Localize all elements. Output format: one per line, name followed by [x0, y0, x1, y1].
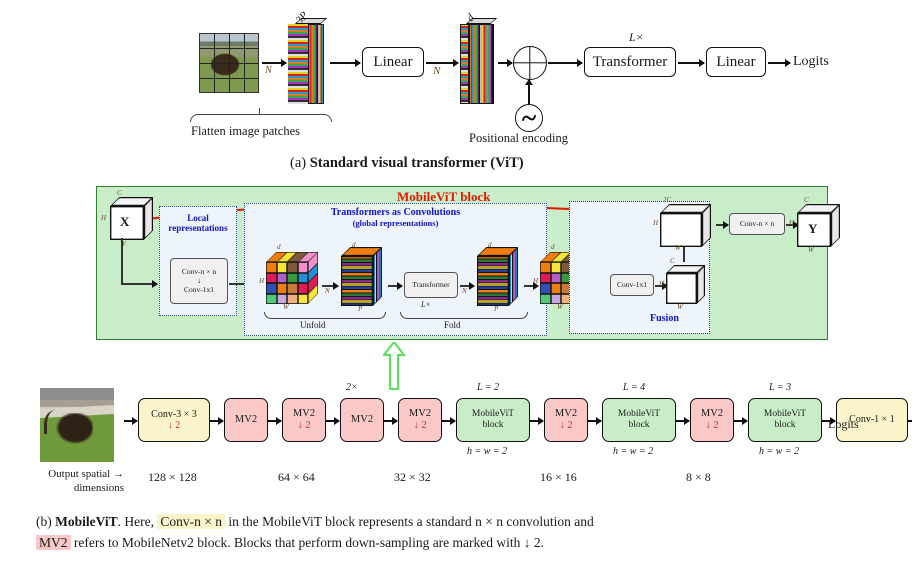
block-mv2-6-line2: ↓ 2 [705, 420, 718, 432]
local-conv-1x1-label: Conv-1x1 [184, 286, 214, 295]
green-link-arrow [383, 342, 407, 390]
arrow-flatten-to-linear [330, 62, 360, 64]
arrow-to-mv2-3 [326, 420, 339, 422]
input-tensor-cube-x: X [110, 196, 156, 240]
x-down-line [121, 238, 123, 284]
block-mvit-2-line1: MobileViT [618, 409, 660, 420]
linear-box-2: Linear [706, 47, 766, 77]
block-mv2-2: MV2↓ 2 [282, 398, 326, 442]
arrow-to-mv2-1 [210, 420, 223, 422]
figure-mobilevit: N 3P Linear N d Positional encoding L× T… [0, 0, 912, 572]
label-positional-encoding: Positional encoding [469, 131, 568, 146]
label-spatial-mv2-6: 8 × 8 [686, 470, 711, 485]
flattened-patch-stack [288, 24, 324, 104]
arrow-to-mvit-1 [442, 420, 455, 422]
arrow-to-mv2-2 [268, 420, 281, 422]
arrow-linear2-to-logits [768, 62, 790, 64]
label-bottom-mvit-3: h = w = 2 [759, 446, 799, 457]
arrow-posenc-to-add [528, 80, 530, 104]
linear-box-1: Linear [362, 47, 424, 77]
arrow-linear-to-tokens [426, 62, 458, 64]
label-block-transformer-repeat: L× [421, 300, 431, 309]
fusion-conv1x1-box: Conv-1x1 [610, 274, 654, 296]
block-mvit-1-line1: MobileViT [472, 409, 514, 420]
label-top-mv2-3: 2× [346, 382, 358, 393]
fusion-convnn-box: Conv-n × n [729, 213, 785, 235]
block-mv2-4-line2: ↓ 2 [413, 420, 426, 432]
block-conv3x3-line2: ↓ 2 [168, 420, 181, 431]
label-fusion-small-h: H [659, 280, 664, 288]
local-representations-title: Local representations [159, 213, 237, 233]
input-image-patches [199, 33, 259, 93]
label-sheet2-d: d [488, 241, 492, 249]
local-conv-nn-label: Conv-n × n [182, 268, 216, 277]
caption-b-part3: refers to MobileNetv2 block. Blocks that… [71, 535, 545, 550]
arrow-sheets2-to-cube [524, 285, 538, 287]
caption-a-bold: Standard visual transformer (ViT) [310, 155, 524, 171]
arrow-x-to-local [121, 283, 157, 285]
arrow-to-mv2-5 [530, 420, 543, 422]
label-flatten-image-patches: Flatten image patches [191, 124, 300, 139]
block-mv2-3-line1: MV2 [351, 414, 373, 426]
transformer-box: Transformer [584, 47, 676, 77]
fusion-cube-concat [660, 203, 714, 247]
local-conv-box: Conv-n × n ↓ Conv-1x1 [170, 258, 228, 304]
label-logits-a: Logits [793, 54, 829, 70]
label-y-h: H [789, 219, 794, 227]
global-title-l1: Transformers as Convolutions [331, 207, 460, 218]
add-operator-icon [513, 46, 547, 80]
arrow-sheets-to-transformer [388, 285, 402, 287]
block-mvit-3-line2: block [774, 420, 795, 431]
arrow-transformer-to-linear2 [678, 62, 704, 64]
block-mv2-1: MV2 [224, 398, 268, 442]
block-mvit-1-line2: block [482, 420, 503, 431]
output-tensor-cube-y: Y [797, 203, 843, 247]
arrow-to-globalpool [908, 420, 912, 422]
brace-unfold [264, 312, 386, 319]
block-mv2-1-line1: MV2 [235, 414, 257, 426]
label-fusion-small-w: W [677, 303, 683, 311]
block-conv3x3: Conv-3 × 3↓ 2 [138, 398, 210, 442]
brace-flatten [190, 114, 332, 122]
block-mv2-6-line1: MV2 [701, 408, 723, 420]
label-fusion-small-c: C [670, 257, 675, 265]
label-unfold: Unfold [300, 320, 326, 330]
arrow-to-mv2-6 [676, 420, 689, 422]
label-fold-cube-w: W [557, 303, 563, 311]
label-fold-cube-d: d [551, 243, 555, 251]
block-conv3x3-line1: Conv-3 × 3 [151, 409, 197, 420]
label-spatial-mv2-4: 32 × 32 [394, 470, 431, 485]
caption-a-prefix: (a) [290, 155, 310, 171]
label-y-c: C [804, 196, 809, 204]
block-mvit-2: MobileViTblock [602, 398, 676, 442]
block-mv2-3: MV2 [340, 398, 384, 442]
label-logits-b: Logits [828, 417, 859, 432]
label-bottom-mvit-2: h = w = 2 [613, 446, 653, 457]
label-sheet1-d: d [352, 241, 356, 249]
brace-fold [400, 312, 528, 319]
caption-panel-b: (b) MobileViT. Here, Conv-n × n in the M… [36, 512, 882, 554]
caption-b-part2: in the MobileViT block represents a stan… [225, 514, 594, 529]
arrow-concat-to-convnn [716, 224, 728, 226]
fusion-title: Fusion [650, 313, 679, 324]
caption-b-prefix: (b) [36, 514, 55, 529]
label-transformer-repeat: L× [629, 30, 644, 45]
block-mv2-6: MV2↓ 2 [690, 398, 734, 442]
label-unfold-cube-h: H [259, 277, 264, 285]
patch-color-rows [288, 24, 308, 104]
caption-panel-a: (a) Standard visual transformer (ViT) [290, 155, 524, 172]
block-mv2-5-line2: ↓ 2 [559, 420, 572, 432]
block-mv2-5-line1: MV2 [555, 408, 577, 420]
positional-encoding-icon [515, 104, 543, 132]
arrow-to-mv2-4 [384, 420, 397, 422]
block-mv2-4-line1: MV2 [409, 408, 431, 420]
block-mvit-3-line1: MobileViT [764, 409, 806, 420]
label-patch-count-n: N [265, 65, 272, 76]
block-mvit-1: MobileViTblock [456, 398, 530, 442]
label-y-w: W [808, 246, 814, 254]
unfolded-sheet-stack [341, 248, 385, 306]
label-top-mvit-2: L = 4 [623, 382, 645, 393]
label-sheets-n: N [325, 287, 330, 295]
local-title-l1: Local [187, 213, 209, 223]
input-photo [40, 388, 114, 462]
caption-b-part1: . Here, [118, 514, 158, 529]
label-unfold-cube-w: W [283, 303, 289, 311]
label-unfold-cube-d: d [277, 243, 281, 251]
label-top-mvit-3: L = 3 [769, 382, 791, 393]
global-title-l2: (global representations) [353, 218, 439, 228]
label-fusion-concat-2c: 2C [663, 196, 671, 204]
label-fold-cube-h: H [533, 277, 538, 285]
caption-b-bold: MobileViT [55, 514, 118, 529]
arrow-image-to-flatten [262, 62, 286, 64]
label-sheets2-n: N [462, 287, 467, 295]
block-mv2-2-line1: MV2 [293, 408, 315, 420]
token-embedding-stack [460, 24, 494, 104]
block-mv2-4: MV2↓ 2 [398, 398, 442, 442]
block-mv2-5: MV2↓ 2 [544, 398, 588, 442]
caption-b-hl-mv2: MV2 [36, 535, 71, 550]
fusion-cube-small [666, 264, 708, 304]
block-mvit-3: MobileViTblock [748, 398, 822, 442]
label-x-h: H [101, 214, 106, 222]
caption-b-line2: MV2 refers to MobileNetv2 block. Blocks … [36, 533, 882, 554]
label-output-spatial: Output spatial → dimensions [34, 468, 124, 496]
arrow-to-conv3x3 [124, 420, 137, 422]
global-representations-title: Transformers as Convolutions (global rep… [244, 207, 547, 229]
block-mvit-2-line2: block [628, 420, 649, 431]
output-spatial-l2: dimensions [74, 482, 124, 494]
label-fold: Fold [444, 320, 461, 330]
arrow-to-mvit-2 [588, 420, 601, 422]
block-transformer-box: Transformer [404, 272, 458, 298]
label-spatial-conv3x3: 128 × 128 [148, 470, 197, 485]
arrow-to-mvit-3 [734, 420, 747, 422]
brace-flatten-stem [259, 108, 260, 115]
output-spatial-l1: Output spatial → [48, 468, 124, 480]
label-fusion-concat-w: W [675, 244, 681, 252]
caption-b-hl-conv: Conv-n × n [157, 514, 225, 529]
block-mv2-2-line2: ↓ 2 [297, 420, 310, 432]
caption-b-line1: (b) MobileViT. Here, Conv-n × n in the M… [36, 512, 882, 533]
label-top-mvit-1: L = 2 [477, 382, 499, 393]
label-spatial-mv2-5: 16 × 16 [540, 470, 577, 485]
arrow-add-to-transformer [548, 62, 582, 64]
label-bottom-mvit-1: h = w = 2 [467, 446, 507, 457]
label-spatial-mv2-2: 64 × 64 [278, 470, 315, 485]
label-fusion-concat-h: H [653, 219, 658, 227]
feature-cube-unfold [266, 250, 318, 304]
local-title-l2: representations [168, 223, 227, 233]
folded-sheet-stack [477, 248, 521, 306]
label-x-c: C [117, 189, 122, 197]
arrow-tokens-to-add [498, 62, 512, 64]
label-tokens-n: N [433, 65, 440, 77]
